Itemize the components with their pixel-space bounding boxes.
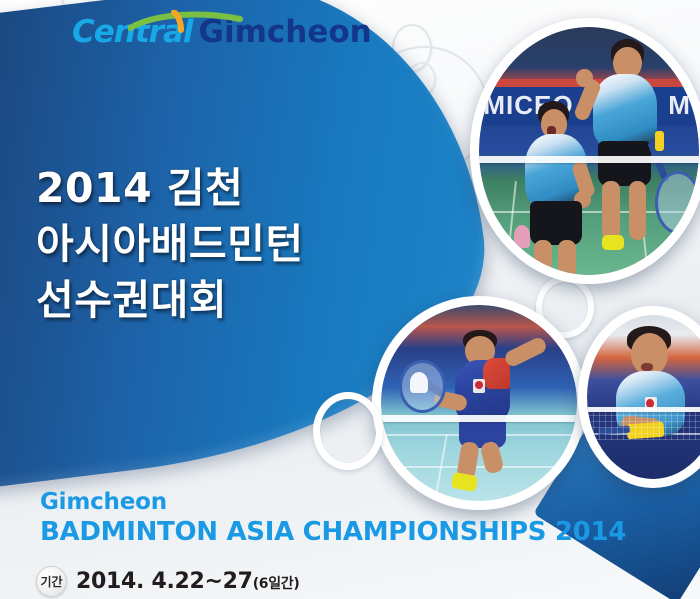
photo-mens-singles-lunge bbox=[372, 296, 586, 510]
subtitle-block: Gimcheon BADMINTON ASIA CHAMPIONSHIPS 20… bbox=[40, 488, 626, 548]
title-line-3: 선수권대회 bbox=[36, 272, 396, 328]
subtitle-city: Gimcheon bbox=[40, 488, 626, 516]
photo-womens-doubles-celebration: MICEO M bbox=[470, 18, 700, 284]
page-title: 2014 김천 아시아배드민턴 선수권대회 bbox=[36, 160, 396, 328]
title-line-2: 아시아배드민턴 bbox=[36, 216, 396, 272]
date-range: 2014. 4.22~27 bbox=[76, 569, 253, 594]
title-line-1: 2014 김천 bbox=[36, 160, 396, 216]
logo-swoosh-icon bbox=[128, 10, 248, 34]
poster-canvas: CentralGimcheon 2014 김천 아시아배드민턴 선수권대회 MI… bbox=[0, 0, 700, 599]
date-row: 기간 2014. 4.22~27(6일간) bbox=[36, 566, 300, 597]
photo-womens-singles-net-shot bbox=[578, 306, 700, 488]
subtitle-event: BADMINTON ASIA CHAMPIONSHIPS 2014 bbox=[40, 516, 626, 548]
date-value: 2014. 4.22~27(6일간) bbox=[76, 569, 300, 594]
date-badge: 기간 bbox=[36, 566, 67, 597]
brand-logo: CentralGimcheon bbox=[72, 14, 372, 50]
date-duration: (6일간) bbox=[253, 576, 300, 592]
